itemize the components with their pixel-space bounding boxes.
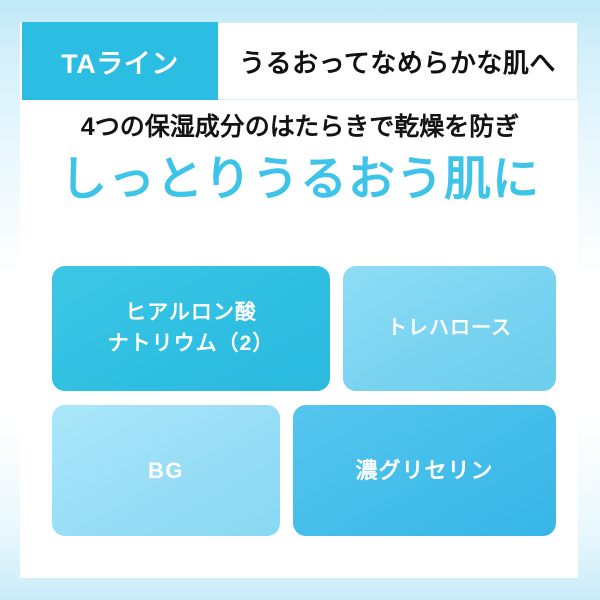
headline-maintext: しっとりうるおう肌に (22, 152, 578, 206)
ingredient-card-label: BG (148, 455, 184, 487)
header-strip: TAライン うるおってなめらかな肌へ (22, 22, 578, 100)
product-line-badge-label: TAライン (61, 42, 179, 81)
ingredient-card: BG (52, 405, 280, 536)
tagline-box: うるおってなめらかな肌へ (218, 22, 578, 100)
promo-poster: TAライン うるおってなめらかな肌へ 4つの保湿成分のはたらきで乾燥を防ぎ しっ… (0, 0, 600, 600)
ingredient-card: 濃グリセリン (293, 405, 556, 536)
ingredient-card: ヒアルロン酸 ナトリウム（2） (52, 266, 330, 391)
ingredient-card-grid: ヒアルロン酸 ナトリウム（2） トレハロース BG 濃グリセリン (52, 266, 556, 536)
tagline-text: うるおってなめらかな肌へ (239, 43, 556, 80)
product-line-badge: TAライン (22, 22, 218, 100)
ingredient-card-label: トレハロース (387, 314, 512, 343)
ingredient-card: トレハロース (343, 266, 556, 391)
headline-block: 4つの保湿成分のはたらきで乾燥を防ぎ しっとりうるおう肌に (22, 112, 578, 206)
headline-subtext: 4つの保湿成分のはたらきで乾燥を防ぎ (22, 112, 578, 142)
ingredient-card-label: ヒアルロン酸 ナトリウム（2） (108, 298, 275, 359)
ingredient-card-label: 濃グリセリン (355, 455, 493, 487)
